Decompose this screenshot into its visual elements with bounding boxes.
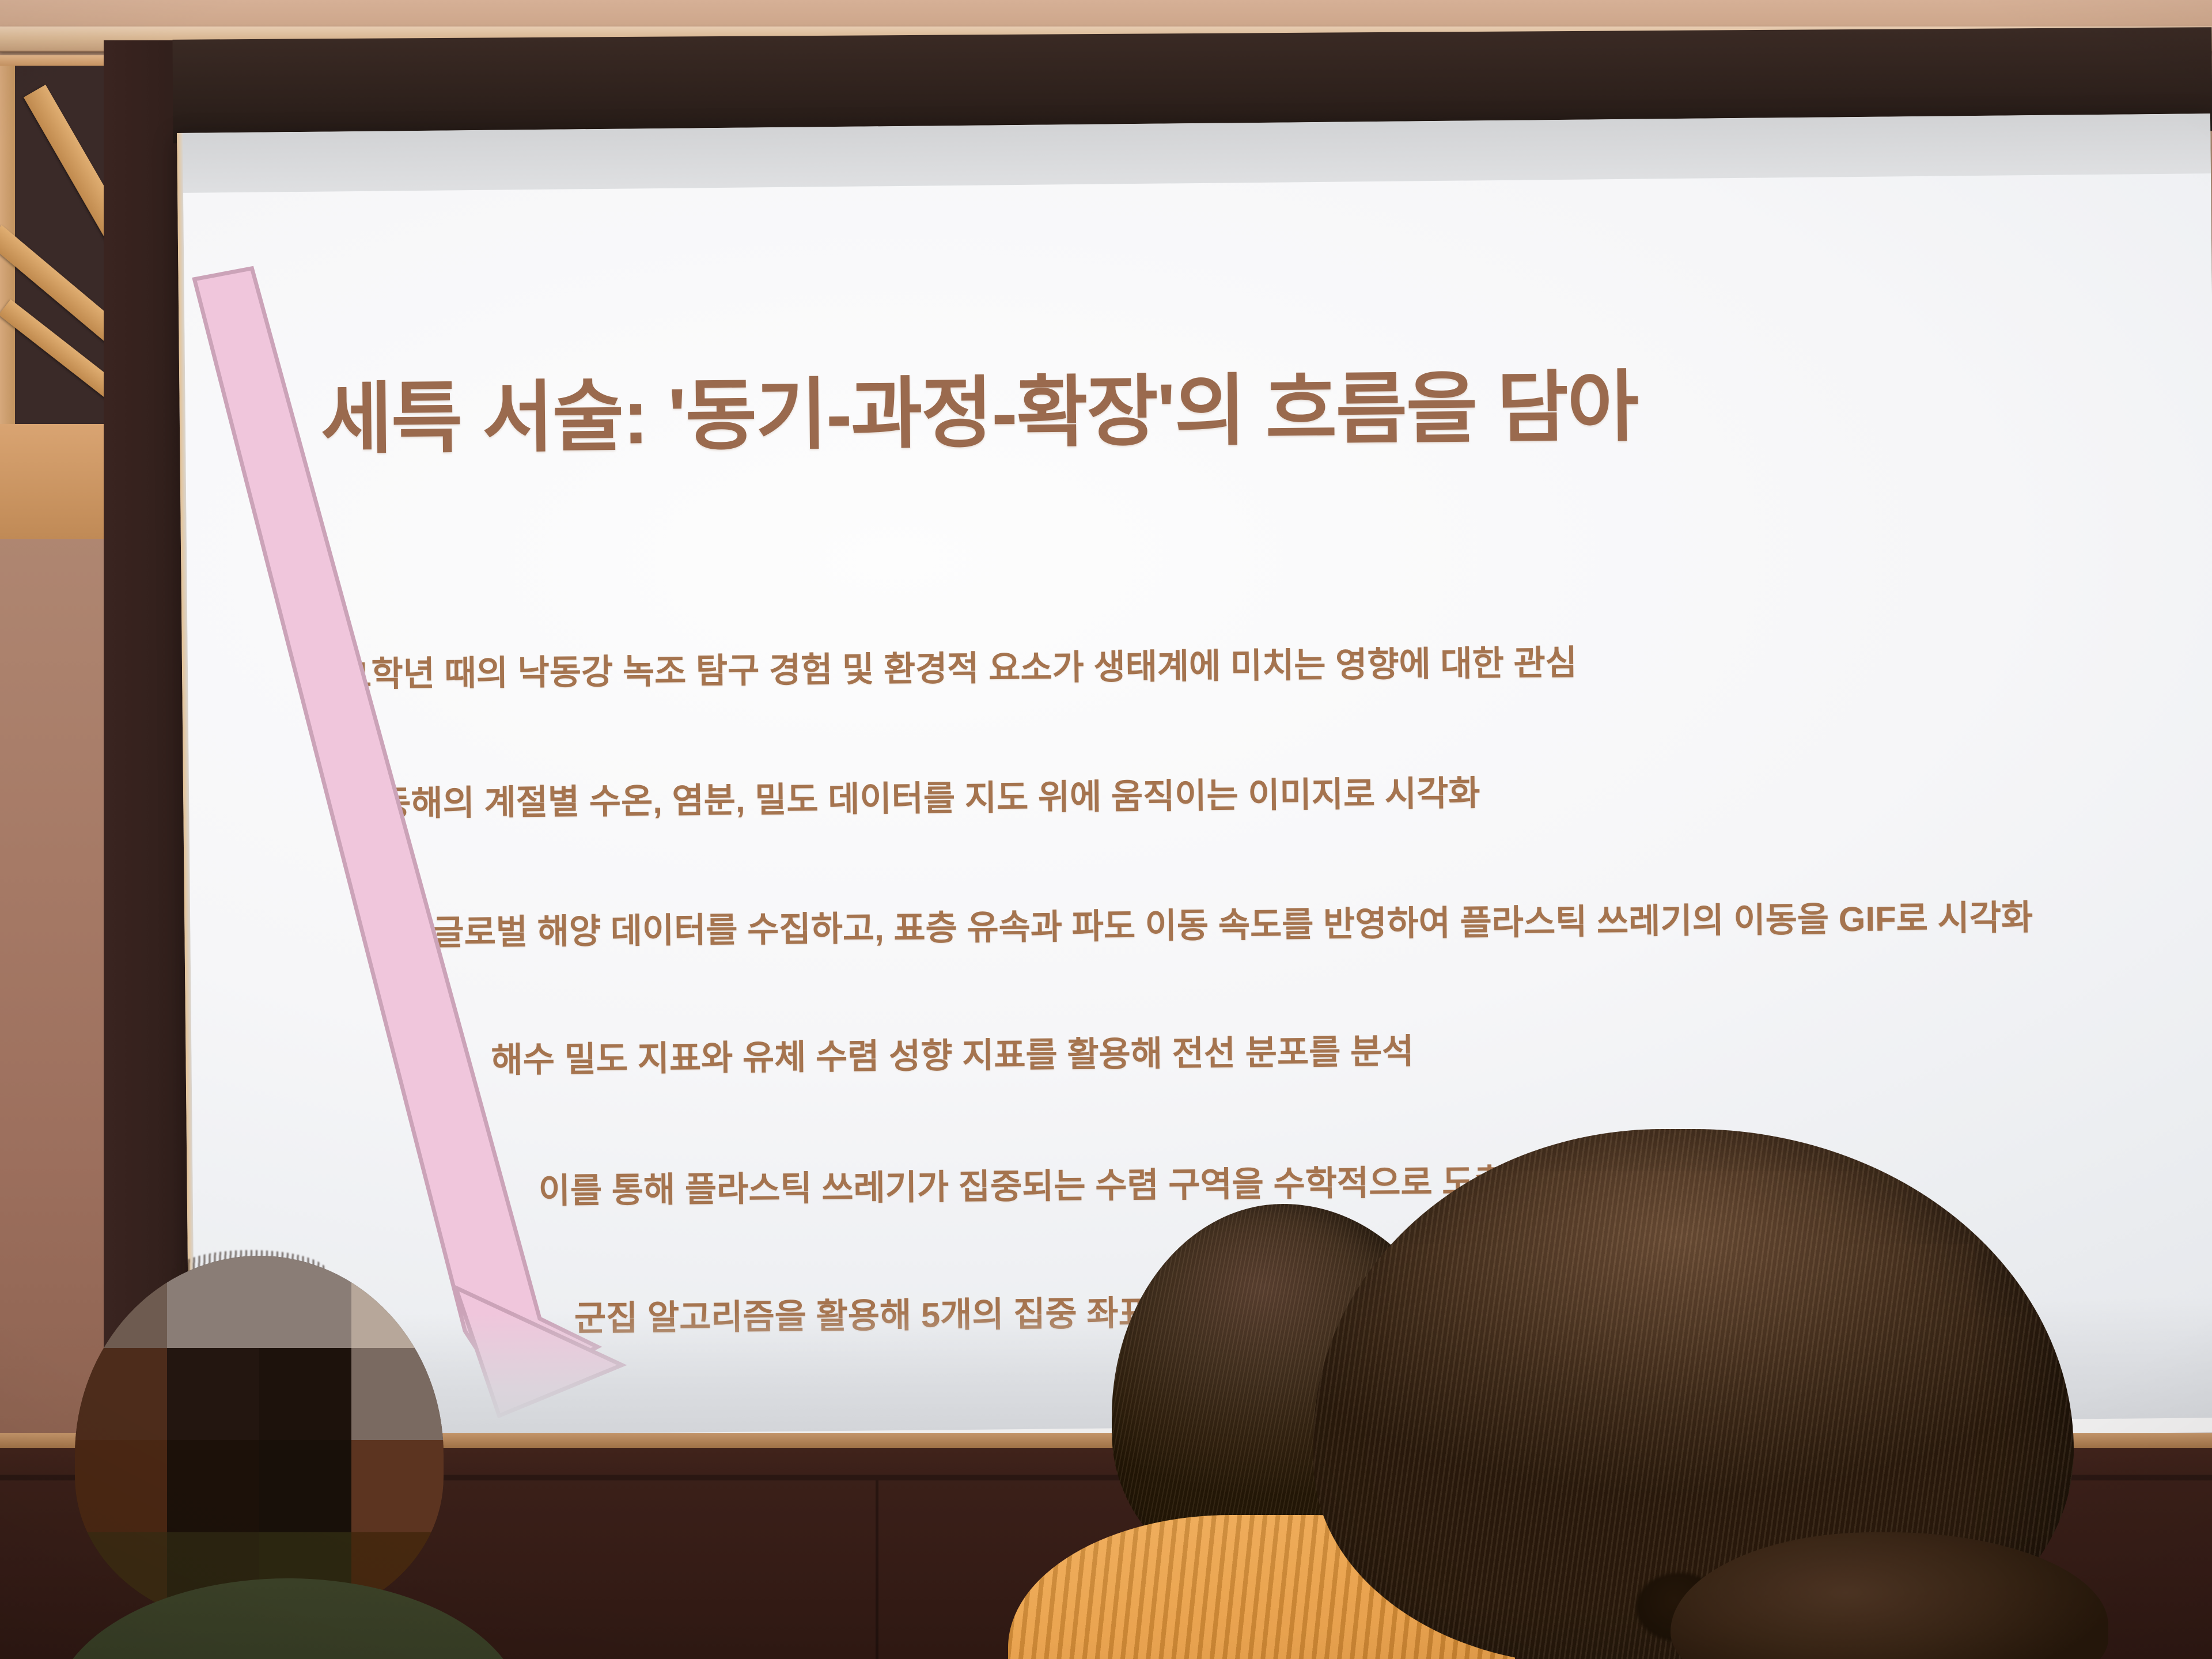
attendee-ponytail (1313, 1129, 2212, 1659)
attendee-anonymized (75, 1256, 478, 1659)
bullet-line: 동해의 계절별 수온, 염분, 밀도 데이터를 지도 위에 움직이는 이미지로 … (379, 765, 1480, 825)
mosaic-privacy-blur (75, 1256, 444, 1624)
bullet-line: 글로벌 해양 데이터를 수집하고, 표층 유속과 파도 이동 속도를 반영하여 … (432, 889, 2033, 955)
wainscot-seam (876, 1480, 878, 1659)
screenshot-stage: 세특 서술: '동기-과정-확장'의 흐름을 담아 1학년 때의 낙동강 녹조 … (0, 0, 2212, 1659)
mosaic-tiles (75, 1256, 444, 1624)
bullet-line: 해수 밀도 지표와 유체 수렴 성향 지표를 활용해 전선 분포를 분석 (491, 1023, 1414, 1082)
bullet-line: 1학년 때의 낙동강 녹조 탐구 경험 및 환경적 요소가 생태계에 미치는 영… (352, 635, 1578, 696)
